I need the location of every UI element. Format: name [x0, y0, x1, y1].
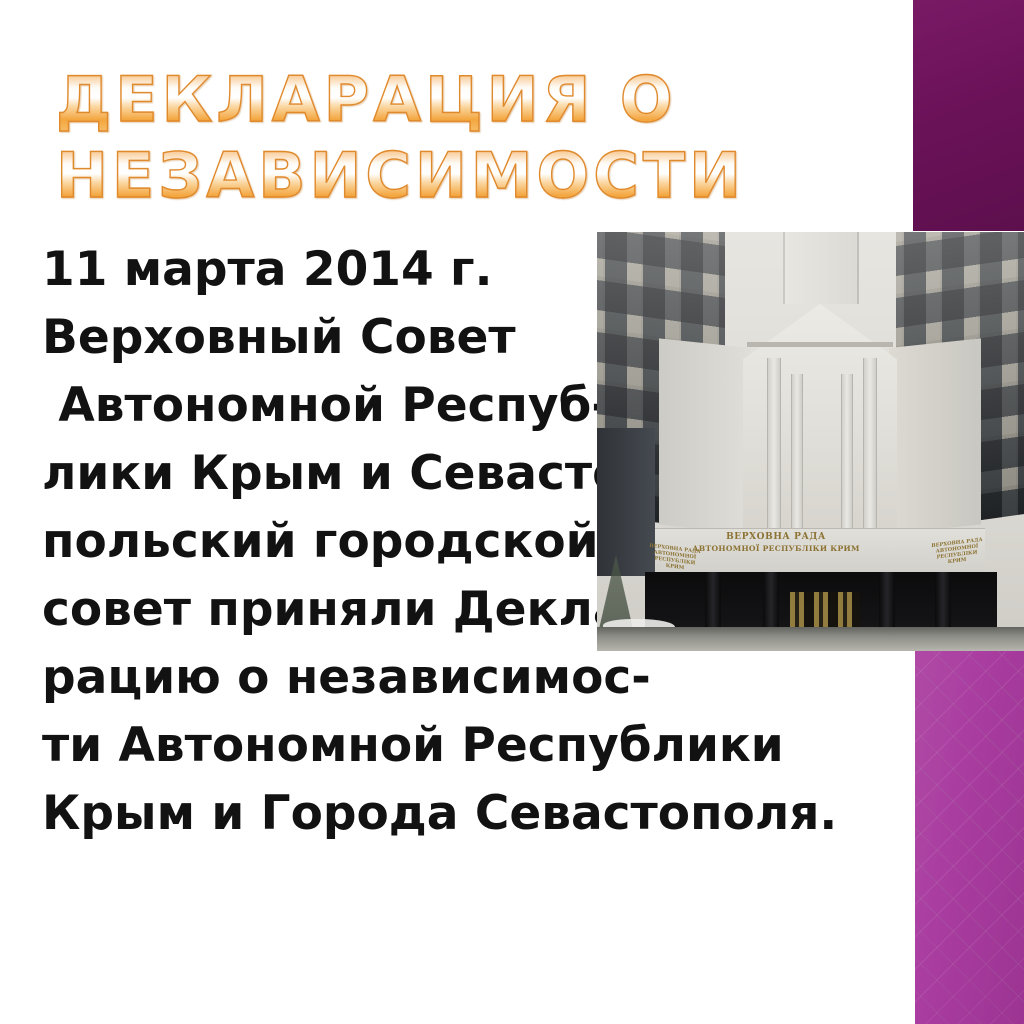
portico-right-facet	[889, 338, 981, 534]
pavement	[597, 627, 1024, 651]
inscription-line-2: АВТОНОМНОЇ РЕСПУБЛІКИ КРИМ	[691, 543, 861, 554]
portico-pilaster	[863, 358, 877, 530]
inscription-line-1: ВЕРХОВНА РАДА	[691, 532, 861, 543]
slide-canvas: ДЕКЛАРАЦИЯ О НЕЗАВИСИМОСТИ 11 марта 2014…	[0, 0, 1024, 1024]
inscription-center: ВЕРХОВНА РАДА АВТОНОМНОЇ РЕСПУБЛІКИ КРИМ	[691, 532, 861, 554]
portico-cornice	[747, 342, 893, 347]
title-line-1: ДЕКЛАРАЦИЯ О	[56, 62, 756, 138]
body-line: ти Автономной Республики	[42, 712, 762, 780]
central-portico	[655, 294, 985, 544]
body-line: Крым и Города Севастополя.	[42, 780, 762, 848]
portico-pilaster	[767, 358, 781, 530]
slide-title: ДЕКЛАРАЦИЯ О НЕЗАВИСИМОСТИ	[56, 62, 756, 214]
body-line: рацию о независимос-	[42, 644, 762, 712]
title-line-2: НЕЗАВИСИМОСТИ	[56, 138, 756, 214]
building-photo: ВЕРХОВНА РАДА АВТОНОМНОЇ РЕСПУБЛІКИ КРИМ…	[597, 232, 1024, 651]
decorative-block-top-right	[913, 0, 1024, 231]
decorative-block-bottom-right	[915, 651, 1024, 1024]
portico-pilaster	[791, 374, 803, 530]
portico-left-facet	[659, 338, 751, 534]
portico-pilaster	[841, 374, 853, 530]
